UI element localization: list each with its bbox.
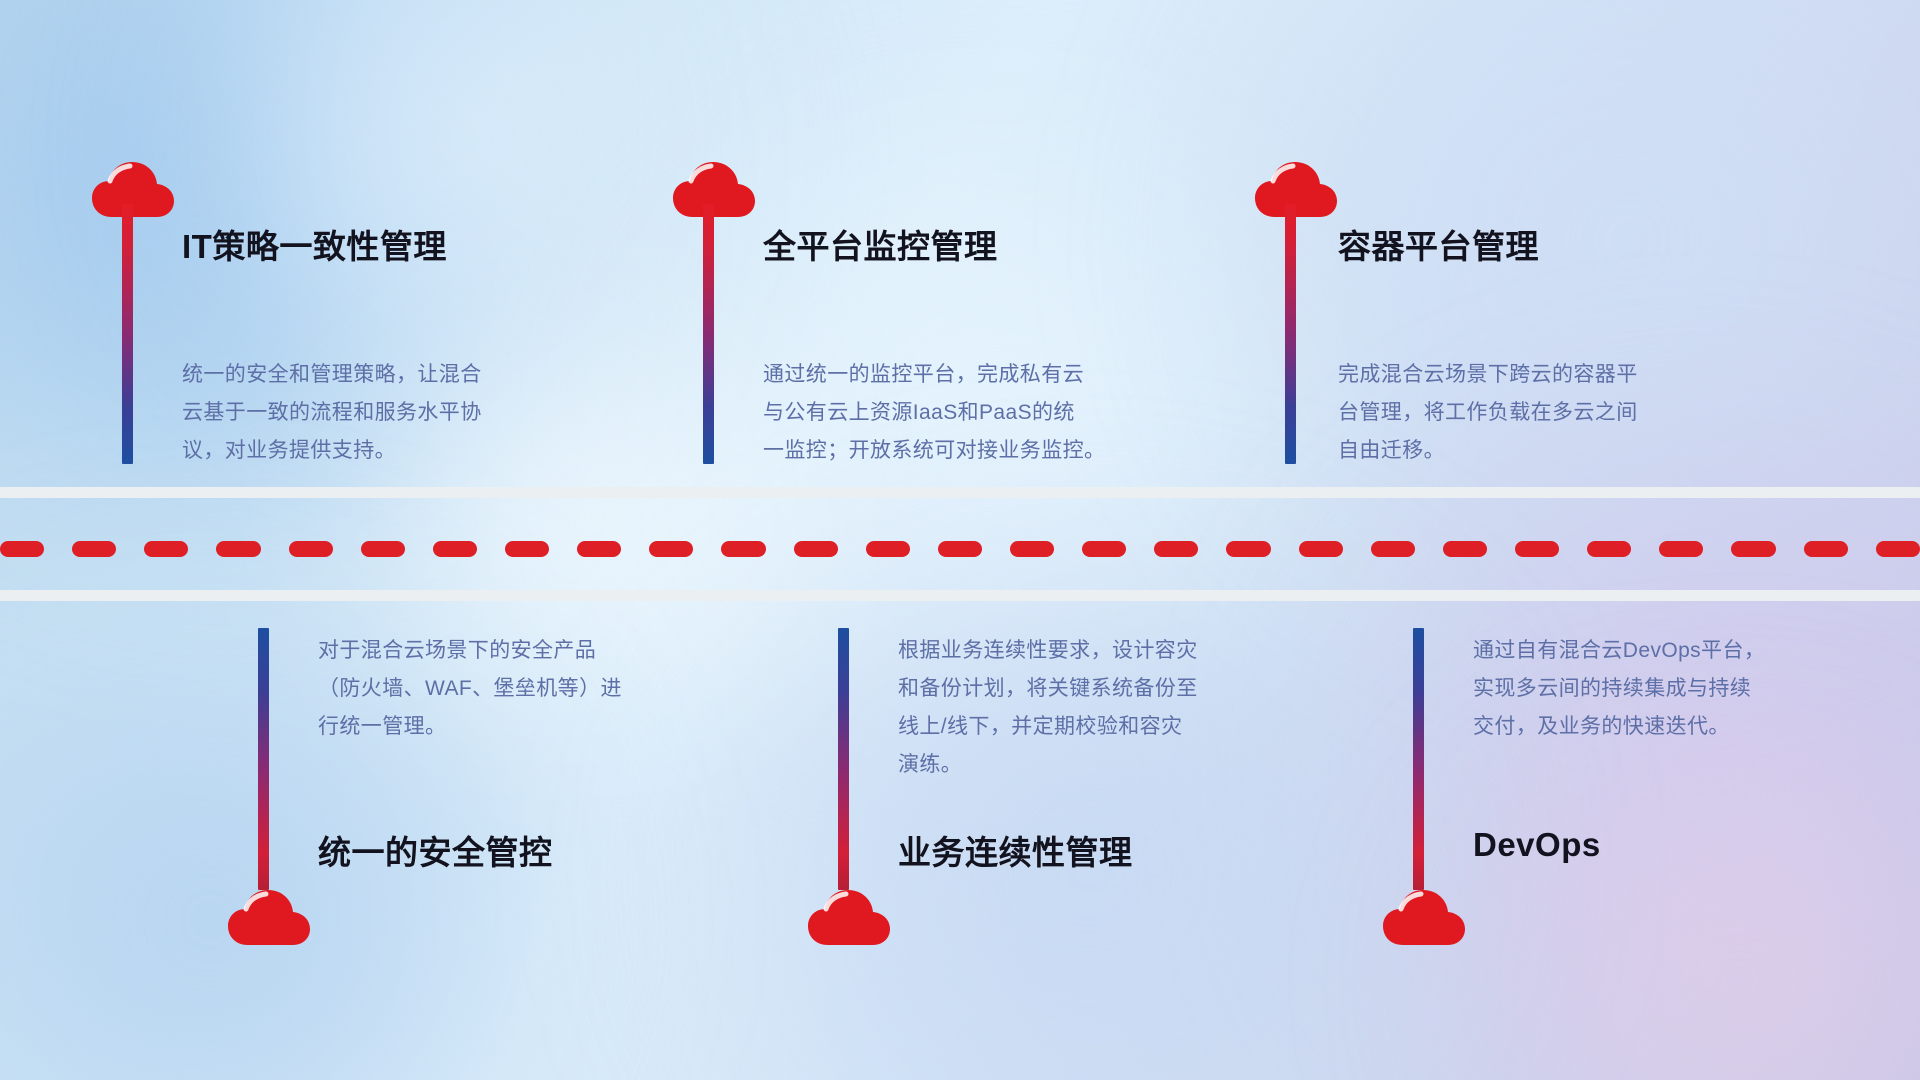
cloud-icon	[1253, 160, 1339, 220]
road-dash	[1731, 541, 1775, 557]
road-dash	[1154, 541, 1198, 557]
pillar-body: 根据业务连续性要求，设计容灾 和备份计划，将关键系统备份至 线上/线下，并定期校…	[898, 632, 1338, 784]
road-dash	[144, 541, 188, 557]
road-dash	[1443, 541, 1487, 557]
road-dash	[794, 541, 838, 557]
pillar-body: 通过自有混合云DevOps平台， 实现多云间的持续集成与持续 交付，及业务的快速…	[1473, 632, 1913, 746]
road-dash	[1659, 541, 1703, 557]
road-dash	[1010, 541, 1054, 557]
road-dash	[1804, 541, 1848, 557]
road-dash	[433, 541, 477, 557]
pillar-title: 统一的安全管控	[318, 826, 553, 874]
road-edge-bottom	[0, 590, 1920, 601]
road-dash	[721, 541, 765, 557]
cloud-icon	[226, 888, 312, 948]
road-dash	[72, 541, 116, 557]
cloud-icon	[1381, 888, 1467, 948]
pillar-title: 业务连续性管理	[898, 826, 1133, 874]
pillar-body: 对于混合云场景下的安全产品 （防火墙、WAF、堡垒机等）进 行统一管理。	[318, 632, 748, 746]
road-dash	[1587, 541, 1631, 557]
road-dash	[649, 541, 693, 557]
road-edge-top	[0, 487, 1920, 498]
pillar-title: 全平台监控管理	[763, 220, 998, 268]
road-dash	[1876, 541, 1920, 557]
road-dash	[577, 541, 621, 557]
road-dash	[505, 541, 549, 557]
road-dash	[1371, 541, 1415, 557]
road-dash	[0, 541, 44, 557]
road-dash	[938, 541, 982, 557]
road-dash	[289, 541, 333, 557]
road-dash	[361, 541, 405, 557]
pillar-title: 容器平台管理	[1338, 220, 1539, 268]
cloud-icon	[90, 160, 176, 220]
pillar-title: DevOps	[1473, 826, 1601, 864]
pillar-bar	[258, 628, 269, 890]
pillar-bar	[1285, 204, 1296, 464]
road-dash	[866, 541, 910, 557]
infographic-canvas: IT策略一致性管理 统一的安全和管理策略，让混合 云基于一致的流程和服务水平协 …	[0, 0, 1920, 1080]
cloud-icon	[806, 888, 892, 948]
road-dash	[1082, 541, 1126, 557]
pillar-body: 通过统一的监控平台，完成私有云 与公有云上资源IaaS和PaaS的统 一监控；开…	[763, 356, 1213, 470]
road-dash	[1226, 541, 1270, 557]
pillar-bar	[1413, 628, 1424, 890]
pillar-title: IT策略一致性管理	[182, 220, 447, 268]
pillar-body: 统一的安全和管理策略，让混合 云基于一致的流程和服务水平协 议，对业务提供支持。	[182, 356, 612, 470]
road-dash	[1299, 541, 1343, 557]
pillar-bar	[838, 628, 849, 890]
cloud-icon	[671, 160, 757, 220]
pillar-bar	[122, 204, 133, 464]
pillar-body: 完成混合云场景下跨云的容器平 台管理，将工作负载在多云之间 自由迁移。	[1338, 356, 1788, 470]
road-dash	[1515, 541, 1559, 557]
road-center-dashes	[0, 541, 1920, 557]
pillar-bar	[703, 204, 714, 464]
road-dash	[216, 541, 260, 557]
